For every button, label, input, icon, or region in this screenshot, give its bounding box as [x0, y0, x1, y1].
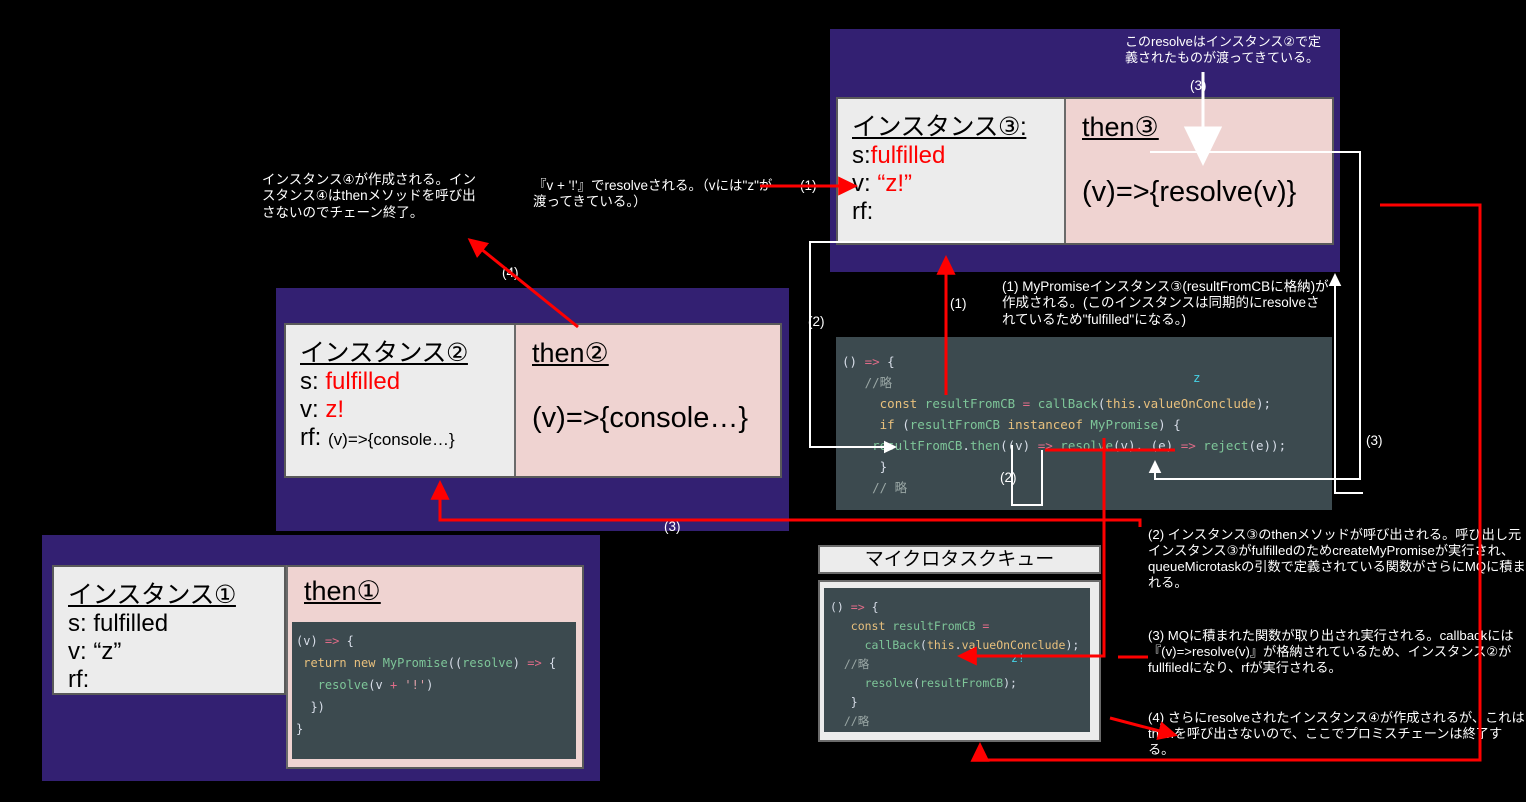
- instance2-value-label: v:: [300, 396, 319, 423]
- annotation-step1: (1) MyPromiseインスタンス③(resultFromCBに格納)が作成…: [1002, 279, 1332, 328]
- instance2-rf-value: (v)=>{console…}: [328, 430, 455, 449]
- code-block-right: () => { //略 const resultFromCB = callBac…: [836, 337, 1332, 510]
- then2-body: (v)=>{console…}: [532, 403, 768, 435]
- instance2-title: インスタンス②: [300, 339, 502, 368]
- instance2-state: s: fulfilled: [300, 368, 502, 396]
- step-label-3b: (3): [1366, 433, 1383, 448]
- instance3-value-label: v:: [852, 170, 871, 197]
- annotation-step4: (4) さらにresolveされたインスタンス④が作成されるが、これはthenを…: [1148, 710, 1526, 758]
- step-label-4: (4): [502, 265, 519, 280]
- instance2-value: v: z!: [300, 396, 502, 424]
- then3-body: (v)=>{resolve(v)}: [1082, 177, 1320, 209]
- step-label-2a: (2): [808, 314, 825, 329]
- instance1-title: インスタンス①: [68, 581, 272, 610]
- diagram-canvas: インスタンス③: s:fulfilled v: “z!” rf: then③ (…: [0, 0, 1526, 802]
- instance2-state-label: s:: [300, 368, 319, 395]
- card-instance3: インスタンス③: s:fulfilled v: “z!” rf: then③ (…: [836, 97, 1334, 245]
- then2-title: then②: [532, 339, 768, 369]
- instance1-state-box: インスタンス① s: fulfilled v: “z” rf:: [52, 565, 286, 695]
- instance3-title: インスタンス③:: [852, 113, 1052, 142]
- instance3-state-label: s:: [852, 142, 871, 169]
- annotation-top-resolve: このresolveはインスタンス②で定義されたものが渡ってきている。: [1125, 34, 1325, 66]
- step-label-3c: (3): [664, 519, 681, 534]
- instance3-rf: rf:: [852, 198, 1052, 226]
- annotation-step3: (3) MQに積まれた関数が取り出され実行される。callbackには『(v)=…: [1148, 628, 1526, 676]
- instance2-rf: rf: (v)=>{console…}: [300, 424, 502, 452]
- instance1-state: s: fulfilled: [68, 610, 272, 638]
- code-mq-marker: z!: [1011, 651, 1025, 665]
- instance2-then-box: then② (v)=>{console…}: [514, 325, 780, 476]
- step-label-3a: (3): [1190, 78, 1207, 93]
- microtask-queue-title: マイクロタスクキュー: [818, 545, 1101, 574]
- instance2-value-value: z!: [325, 396, 344, 423]
- instance3-then-box: then③ (v)=>{resolve(v)}: [1064, 99, 1332, 243]
- instance3-value: v: “z!”: [852, 170, 1052, 198]
- step-label-1a: (1): [800, 178, 817, 193]
- instance3-value-value: “z!”: [877, 170, 912, 197]
- code-block-microtask: () => { const resultFromCB = callBack(th…: [824, 588, 1090, 732]
- step-label-1b: (1): [950, 296, 967, 311]
- code-right-marker: z: [1193, 370, 1201, 385]
- instance2-rf-label: rf:: [300, 424, 321, 451]
- then1-title: then①: [304, 577, 570, 607]
- code-block-then1: (v) => { return new MyPromise((resolve) …: [292, 622, 576, 759]
- instance2-state-value: fulfilled: [325, 368, 400, 395]
- instance3-state-value: fulfilled: [871, 142, 946, 169]
- instance3-state: s:fulfilled: [852, 142, 1052, 170]
- step-label-2b: (2): [1000, 470, 1017, 485]
- instance1-rf: rf:: [68, 666, 272, 694]
- instance3-state-box: インスタンス③: s:fulfilled v: “z!” rf:: [838, 99, 1064, 243]
- line-white-step3-box: [1335, 490, 1363, 493]
- instance1-value: v: “z”: [68, 638, 272, 666]
- annotation-resolve-value: 『v + '!'』でresolveされる。（vには"z"が渡ってきている。）: [533, 178, 783, 211]
- instance2-state-box: インスタンス② s: fulfilled v: z! rf: (v)=>{con…: [286, 325, 514, 476]
- then3-title: then③: [1082, 113, 1320, 143]
- annotation-instance4: インスタンス④が作成される。インスタンス④はthenメソッドを呼び出さないのでチ…: [262, 172, 477, 221]
- card-instance2: インスタンス② s: fulfilled v: z! rf: (v)=>{con…: [284, 323, 782, 478]
- annotation-step2: (2) インスタンス③のthenメソッドが呼び出される。呼び出し元インスタンス③…: [1148, 527, 1526, 591]
